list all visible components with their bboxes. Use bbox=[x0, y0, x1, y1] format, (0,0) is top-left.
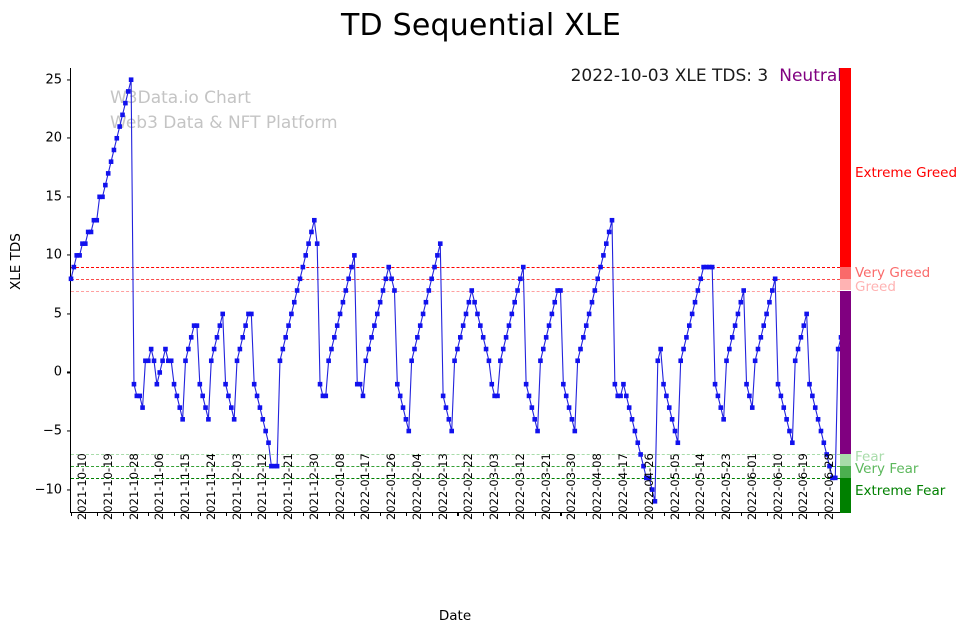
data-point bbox=[312, 218, 317, 223]
data-point bbox=[169, 358, 174, 363]
data-point bbox=[195, 323, 200, 328]
data-point bbox=[229, 405, 234, 410]
data-point bbox=[100, 195, 105, 200]
x-tick-mark bbox=[689, 512, 690, 516]
data-point bbox=[106, 171, 111, 176]
data-point bbox=[767, 300, 772, 305]
zone-label: Extreme Greed bbox=[855, 165, 957, 181]
data-point bbox=[627, 405, 632, 410]
data-point bbox=[375, 312, 380, 317]
data-point bbox=[510, 312, 515, 317]
x-tick-mark bbox=[483, 512, 484, 516]
data-point bbox=[764, 312, 769, 317]
data-point bbox=[349, 265, 354, 270]
data-point bbox=[369, 335, 374, 340]
data-point bbox=[698, 276, 703, 281]
y-tick-label: 0 bbox=[54, 365, 71, 380]
zone-segment bbox=[840, 291, 851, 455]
data-point bbox=[489, 382, 494, 387]
data-point bbox=[515, 288, 520, 293]
data-point bbox=[552, 300, 557, 305]
data-point bbox=[733, 323, 738, 328]
x-tick-label: 2022-01-17 bbox=[358, 453, 372, 520]
x-tick-label: 2022-02-13 bbox=[436, 453, 450, 520]
data-point bbox=[595, 276, 600, 281]
x-tick-mark bbox=[380, 512, 381, 516]
x-tick-mark bbox=[586, 512, 587, 516]
x-tick-mark bbox=[329, 512, 330, 516]
data-point bbox=[286, 323, 291, 328]
x-tick-mark bbox=[509, 512, 510, 516]
data-point bbox=[656, 358, 661, 363]
x-tick-label: 2022-01-08 bbox=[333, 453, 347, 520]
data-point bbox=[401, 405, 406, 410]
x-tick-label: 2021-12-03 bbox=[230, 453, 244, 520]
data-point bbox=[584, 323, 589, 328]
data-point bbox=[587, 312, 592, 317]
data-point bbox=[338, 312, 343, 317]
y-tick-label: −5 bbox=[43, 424, 71, 439]
x-tick-label: 2021-10-28 bbox=[127, 453, 141, 520]
data-point bbox=[635, 440, 640, 445]
data-point bbox=[687, 323, 692, 328]
data-point bbox=[739, 300, 744, 305]
y-tick-label: −10 bbox=[35, 482, 71, 497]
data-point bbox=[613, 382, 618, 387]
x-tick-mark bbox=[664, 512, 665, 516]
data-point bbox=[315, 241, 320, 246]
data-point bbox=[309, 230, 314, 235]
data-point bbox=[112, 148, 117, 153]
x-tick-mark bbox=[715, 512, 716, 516]
zone-label: Extreme Fear bbox=[855, 483, 945, 499]
data-point bbox=[507, 323, 512, 328]
x-tick-mark bbox=[200, 512, 201, 516]
data-point bbox=[155, 382, 160, 387]
data-point bbox=[538, 358, 543, 363]
x-tick-label: 2021-11-24 bbox=[204, 453, 218, 520]
data-point bbox=[72, 265, 77, 270]
data-point bbox=[183, 358, 188, 363]
zone-color-bar bbox=[840, 68, 851, 513]
data-point bbox=[633, 429, 638, 434]
x-tick-label: 2022-01-26 bbox=[384, 453, 398, 520]
data-point bbox=[793, 358, 798, 363]
x-tick-label: 2022-04-08 bbox=[590, 453, 604, 520]
data-point bbox=[243, 323, 248, 328]
zone-label: Greed bbox=[855, 279, 896, 295]
x-tick-label: 2022-03-30 bbox=[564, 453, 578, 520]
data-point bbox=[361, 394, 366, 399]
data-point bbox=[604, 241, 609, 246]
data-point bbox=[730, 335, 735, 340]
data-point bbox=[298, 276, 303, 281]
data-point bbox=[753, 358, 758, 363]
data-point bbox=[186, 347, 191, 352]
data-point bbox=[676, 440, 681, 445]
page-title: TD Sequential XLE bbox=[0, 8, 962, 43]
data-point bbox=[561, 382, 566, 387]
data-point bbox=[263, 429, 268, 434]
data-point bbox=[398, 394, 403, 399]
x-tick-mark bbox=[612, 512, 613, 516]
data-point bbox=[630, 417, 635, 422]
data-point bbox=[781, 405, 786, 410]
data-point bbox=[132, 382, 137, 387]
data-point bbox=[83, 241, 88, 246]
x-tick-label: 2022-06-28 bbox=[822, 453, 836, 520]
data-point bbox=[578, 347, 583, 352]
data-point bbox=[759, 335, 764, 340]
data-point bbox=[240, 335, 245, 340]
data-point bbox=[366, 347, 371, 352]
x-tick-mark bbox=[767, 512, 768, 516]
data-point bbox=[275, 464, 280, 469]
data-point bbox=[621, 382, 626, 387]
data-point bbox=[661, 382, 666, 387]
y-axis-label: XLE TDS bbox=[8, 233, 24, 290]
data-point bbox=[590, 300, 595, 305]
data-point bbox=[412, 347, 417, 352]
data-point bbox=[801, 323, 806, 328]
data-point bbox=[372, 323, 377, 328]
data-point bbox=[206, 417, 211, 422]
data-point bbox=[198, 382, 203, 387]
data-point bbox=[713, 382, 718, 387]
x-tick-mark bbox=[148, 512, 149, 516]
data-point bbox=[89, 230, 94, 235]
data-point bbox=[255, 394, 260, 399]
data-point bbox=[389, 276, 394, 281]
x-axis-label: Date bbox=[70, 608, 840, 624]
data-point bbox=[381, 288, 386, 293]
data-point bbox=[452, 358, 457, 363]
data-point bbox=[409, 358, 414, 363]
x-tick-mark bbox=[792, 512, 793, 516]
data-point bbox=[332, 335, 337, 340]
data-point bbox=[558, 288, 563, 293]
data-point bbox=[418, 323, 423, 328]
y-tick-label: 10 bbox=[45, 248, 71, 263]
data-point bbox=[678, 358, 683, 363]
data-point bbox=[467, 300, 472, 305]
data-point bbox=[464, 312, 469, 317]
data-point bbox=[421, 312, 426, 317]
x-tick-label: 2021-12-12 bbox=[255, 453, 269, 520]
x-tick-label: 2021-10-19 bbox=[101, 453, 115, 520]
zone-segment bbox=[840, 466, 851, 478]
data-point bbox=[670, 417, 675, 422]
data-point bbox=[266, 440, 271, 445]
data-point bbox=[469, 288, 474, 293]
data-point bbox=[784, 417, 789, 422]
data-point bbox=[747, 394, 752, 399]
data-point bbox=[160, 358, 165, 363]
data-point bbox=[790, 440, 795, 445]
data-point bbox=[226, 394, 231, 399]
x-tick-label: 2022-02-22 bbox=[461, 453, 475, 520]
data-point bbox=[481, 335, 486, 340]
data-point bbox=[120, 113, 125, 118]
data-point bbox=[498, 358, 503, 363]
data-point bbox=[329, 347, 334, 352]
data-point bbox=[117, 124, 122, 129]
data-point bbox=[718, 405, 723, 410]
data-point bbox=[461, 323, 466, 328]
x-tick-label: 2022-06-10 bbox=[771, 453, 785, 520]
data-point bbox=[278, 358, 283, 363]
data-point bbox=[404, 417, 409, 422]
data-point bbox=[212, 347, 217, 352]
data-point bbox=[547, 323, 552, 328]
data-point bbox=[681, 347, 686, 352]
x-tick-mark bbox=[303, 512, 304, 516]
data-point bbox=[727, 347, 732, 352]
zone-segment bbox=[840, 267, 851, 279]
data-point bbox=[200, 394, 205, 399]
data-point bbox=[664, 394, 669, 399]
data-point bbox=[303, 253, 308, 258]
x-tick-label: 2021-11-06 bbox=[152, 453, 166, 520]
x-tick-mark bbox=[71, 512, 72, 516]
data-point bbox=[364, 358, 369, 363]
x-tick-label: 2022-05-23 bbox=[719, 453, 733, 520]
data-point bbox=[447, 417, 452, 422]
x-tick-mark bbox=[174, 512, 175, 516]
data-point bbox=[804, 312, 809, 317]
data-point bbox=[776, 382, 781, 387]
x-tick-label: 2021-12-30 bbox=[307, 453, 321, 520]
data-point bbox=[624, 394, 629, 399]
zone-segment bbox=[840, 478, 851, 513]
data-point bbox=[249, 312, 254, 317]
x-tick-label: 2022-04-17 bbox=[616, 453, 630, 520]
data-point bbox=[301, 265, 306, 270]
data-point bbox=[341, 300, 346, 305]
zone-segment bbox=[840, 279, 851, 291]
data-point bbox=[352, 253, 357, 258]
x-tick-label: 2022-05-05 bbox=[668, 453, 682, 520]
data-point bbox=[129, 77, 134, 82]
data-point bbox=[172, 382, 177, 387]
data-point bbox=[424, 300, 429, 305]
data-point bbox=[180, 417, 185, 422]
data-point bbox=[438, 241, 443, 246]
data-point bbox=[544, 335, 549, 340]
data-point bbox=[258, 405, 263, 410]
data-point bbox=[618, 394, 623, 399]
data-point bbox=[295, 288, 300, 293]
data-point bbox=[696, 288, 701, 293]
y-tick-label: 15 bbox=[45, 189, 71, 204]
data-point bbox=[115, 136, 120, 141]
data-point bbox=[415, 335, 420, 340]
data-point bbox=[550, 312, 555, 317]
data-point bbox=[94, 218, 99, 223]
data-point bbox=[813, 405, 818, 410]
data-point bbox=[323, 394, 328, 399]
data-point bbox=[532, 417, 537, 422]
chart-page: TD Sequential XLE W3Data.io Chart Web3 D… bbox=[0, 0, 962, 633]
data-point bbox=[690, 312, 695, 317]
x-tick-mark bbox=[406, 512, 407, 516]
data-point bbox=[223, 382, 228, 387]
series-markers bbox=[69, 77, 844, 503]
x-tick-mark bbox=[277, 512, 278, 516]
data-point bbox=[238, 347, 243, 352]
data-point bbox=[435, 253, 440, 258]
data-point bbox=[395, 382, 400, 387]
x-tick-label: 2022-03-03 bbox=[487, 453, 501, 520]
data-point bbox=[386, 265, 391, 270]
data-point bbox=[773, 276, 778, 281]
data-point bbox=[535, 429, 540, 434]
data-point bbox=[658, 347, 663, 352]
data-point bbox=[541, 347, 546, 352]
zone-segment bbox=[840, 454, 851, 466]
data-point bbox=[209, 358, 214, 363]
data-point bbox=[770, 288, 775, 293]
x-tick-label: 2022-04-26 bbox=[642, 453, 656, 520]
data-point bbox=[524, 382, 529, 387]
data-point bbox=[721, 417, 726, 422]
data-point bbox=[724, 358, 729, 363]
x-tick-mark bbox=[638, 512, 639, 516]
data-point bbox=[570, 417, 575, 422]
plot-inner: −10−50510152025 2021-10-102021-10-192021… bbox=[71, 68, 840, 512]
data-point bbox=[598, 265, 603, 270]
data-point bbox=[575, 358, 580, 363]
data-point bbox=[283, 335, 288, 340]
data-point bbox=[203, 405, 208, 410]
x-tick-mark bbox=[354, 512, 355, 516]
data-point bbox=[392, 288, 397, 293]
series-line bbox=[71, 80, 841, 502]
data-point bbox=[530, 405, 535, 410]
data-point bbox=[593, 288, 598, 293]
data-point bbox=[140, 405, 145, 410]
y-tick-label: 20 bbox=[45, 131, 71, 146]
data-point bbox=[572, 429, 577, 434]
data-point bbox=[69, 276, 74, 281]
data-point bbox=[232, 417, 237, 422]
x-tick-mark bbox=[560, 512, 561, 516]
data-point bbox=[177, 405, 182, 410]
data-point bbox=[137, 394, 142, 399]
data-point bbox=[235, 358, 240, 363]
data-point bbox=[429, 276, 434, 281]
data-point bbox=[756, 347, 761, 352]
data-point bbox=[495, 394, 500, 399]
data-point bbox=[564, 394, 569, 399]
data-point bbox=[109, 159, 114, 164]
data-point bbox=[346, 276, 351, 281]
data-point bbox=[607, 230, 612, 235]
data-point bbox=[750, 405, 755, 410]
data-point bbox=[406, 429, 411, 434]
x-tick-mark bbox=[741, 512, 742, 516]
data-point bbox=[822, 440, 827, 445]
data-point bbox=[673, 429, 678, 434]
data-point bbox=[427, 288, 432, 293]
data-point bbox=[816, 417, 821, 422]
data-point bbox=[126, 89, 131, 94]
data-point bbox=[527, 394, 532, 399]
data-point bbox=[716, 394, 721, 399]
series-layer bbox=[71, 68, 841, 513]
x-tick-mark bbox=[251, 512, 252, 516]
data-point bbox=[710, 265, 715, 270]
x-tick-mark bbox=[123, 512, 124, 516]
data-point bbox=[432, 265, 437, 270]
data-point bbox=[260, 417, 265, 422]
data-point bbox=[567, 405, 572, 410]
data-point bbox=[103, 183, 108, 188]
data-point bbox=[289, 312, 294, 317]
data-point bbox=[458, 335, 463, 340]
data-point bbox=[761, 323, 766, 328]
data-point bbox=[152, 358, 157, 363]
data-point bbox=[335, 323, 340, 328]
data-point bbox=[693, 300, 698, 305]
data-point bbox=[796, 347, 801, 352]
data-point bbox=[667, 405, 672, 410]
data-point bbox=[512, 300, 517, 305]
y-tick-label: 5 bbox=[54, 306, 71, 321]
data-point bbox=[218, 323, 223, 328]
data-point bbox=[455, 347, 460, 352]
data-point bbox=[378, 300, 383, 305]
x-tick-mark bbox=[226, 512, 227, 516]
data-point bbox=[601, 253, 606, 258]
data-point bbox=[472, 300, 477, 305]
data-point bbox=[799, 335, 804, 340]
data-point bbox=[744, 382, 749, 387]
data-point bbox=[521, 265, 526, 270]
x-tick-label: 2022-06-01 bbox=[745, 453, 759, 520]
plot-area: −10−50510152025 2021-10-102021-10-192021… bbox=[70, 68, 840, 513]
x-tick-mark bbox=[432, 512, 433, 516]
data-point bbox=[215, 335, 220, 340]
x-tick-label: 2022-03-21 bbox=[539, 453, 553, 520]
x-tick-mark bbox=[535, 512, 536, 516]
zone-label: Very Fear bbox=[855, 461, 918, 477]
data-point bbox=[478, 323, 483, 328]
data-point bbox=[358, 382, 363, 387]
data-point bbox=[504, 335, 509, 340]
data-point bbox=[441, 394, 446, 399]
data-point bbox=[384, 276, 389, 281]
data-point bbox=[610, 218, 615, 223]
data-point bbox=[487, 358, 492, 363]
data-point bbox=[157, 370, 162, 375]
data-point bbox=[518, 276, 523, 281]
data-point bbox=[581, 335, 586, 340]
x-tick-mark bbox=[457, 512, 458, 516]
data-point bbox=[146, 358, 151, 363]
data-point bbox=[123, 101, 128, 106]
x-tick-mark bbox=[97, 512, 98, 516]
zone-segment bbox=[840, 68, 851, 267]
data-point bbox=[475, 312, 480, 317]
data-point bbox=[819, 429, 824, 434]
data-point bbox=[326, 358, 331, 363]
data-point bbox=[449, 429, 454, 434]
data-point bbox=[484, 347, 489, 352]
data-point bbox=[736, 312, 741, 317]
x-tick-label: 2021-10-10 bbox=[75, 453, 89, 520]
x-tick-mark bbox=[818, 512, 819, 516]
